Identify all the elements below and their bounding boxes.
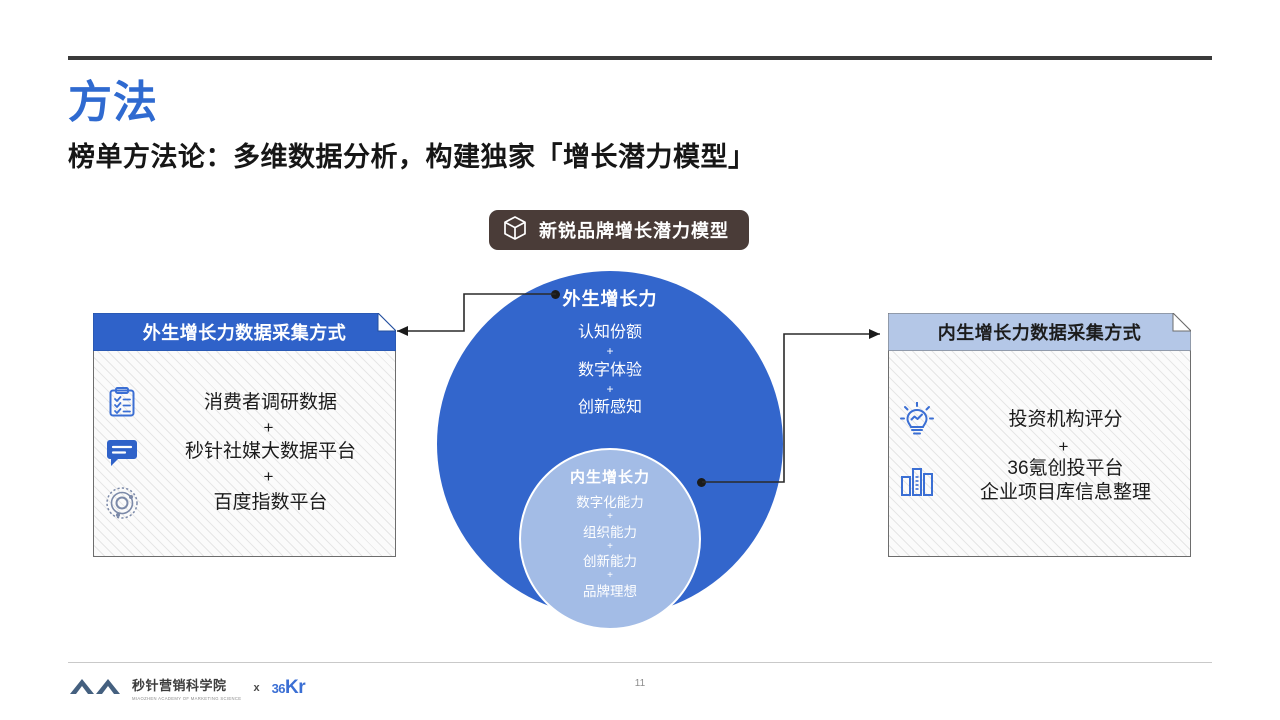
panel-left-label-1: 秒针社媒大数据平台 xyxy=(154,440,395,464)
panel-right-header: 内生增长力数据采集方式 xyxy=(888,313,1191,351)
inner-item-1: 组织能力 xyxy=(521,523,699,542)
outer-sep-1: + xyxy=(437,383,783,396)
panel-right-row-0: 投资机构评分 xyxy=(889,402,1190,438)
panel-right-sep-0: + xyxy=(889,438,1190,457)
panel-right-label-0: 投资机构评分 xyxy=(949,408,1190,432)
inner-item-3: 品牌理想 xyxy=(521,582,699,601)
outer-circle-items: 认知份额 + 数字体验 + 创新感知 xyxy=(437,321,783,420)
outer-item-1: 数字体验 xyxy=(437,359,783,383)
cube-icon xyxy=(503,215,527,246)
outer-circle-title: 外生增长力 xyxy=(437,285,783,311)
inner-circle-anchor-dot xyxy=(697,478,706,487)
lightbulb-chart-icon xyxy=(889,402,945,438)
panel-left-row-2: 百度指数平台 xyxy=(94,486,395,520)
panel-left-title: 外生增长力数据采集方式 xyxy=(143,319,347,345)
panel-left-row-1: 秒针社媒大数据平台 xyxy=(94,438,395,468)
panel-external-growth: 外生增长力数据采集方式 xyxy=(93,313,396,557)
panel-left-sep-0: + xyxy=(94,419,395,438)
inner-sep-1: + xyxy=(521,542,699,553)
page-subtitle: 榜单方法论：多维数据分析，构建独家「增长潜力模型」 xyxy=(68,135,756,174)
outer-sep-0: + xyxy=(437,345,783,358)
page-number: 11 xyxy=(0,678,1280,689)
page-title: 方法 xyxy=(68,78,158,127)
panel-left-header: 外生增长力数据采集方式 xyxy=(93,313,396,351)
panel-right-label-1: 36氪创投平台 企业项目库信息整理 xyxy=(949,457,1190,506)
panel-left-body: 消费者调研数据 + 秒针社媒大数据平台 + xyxy=(93,351,396,557)
panel-right-title: 内生增长力数据采集方式 xyxy=(938,319,1142,345)
radar-target-icon xyxy=(94,486,150,520)
footer-divider xyxy=(68,662,1212,663)
inner-item-0: 数字化能力 xyxy=(521,493,699,512)
panel-right-row-1: 36氪创投平台 企业项目库信息整理 xyxy=(889,457,1190,506)
panel-left-row-0: 消费者调研数据 xyxy=(94,387,395,419)
inner-sep-0: + xyxy=(521,512,699,523)
inner-sep-2: + xyxy=(521,571,699,582)
top-divider xyxy=(68,56,1212,60)
panel-left-sep-1: + xyxy=(94,468,395,487)
inner-growth-circle: 内生增长力 数字化能力 + 组织能力 + 创新能力 + 品牌理想 xyxy=(519,448,701,630)
clipboard-checklist-icon xyxy=(94,387,150,419)
speech-bubble-icon xyxy=(94,438,150,468)
model-badge: 新锐品牌增长潜力模型 xyxy=(489,210,749,250)
outer-circle-anchor-dot xyxy=(551,290,560,299)
outer-item-0: 认知份额 xyxy=(437,321,783,345)
outer-item-2: 创新感知 xyxy=(437,396,783,420)
panel-left-label-0: 消费者调研数据 xyxy=(154,391,395,415)
inner-circle-items: 数字化能力 + 组织能力 + 创新能力 + 品牌理想 xyxy=(521,493,699,601)
model-badge-label: 新锐品牌增长潜力模型 xyxy=(539,217,729,243)
panel-right-body: 投资机构评分 + xyxy=(888,351,1191,557)
brand-name-en: MIAOZHEN ACADEMY OF MARKETING SCIENCE xyxy=(132,696,241,701)
slide-canvas: 方法 榜单方法论：多维数据分析，构建独家「增长潜力模型」 新锐品牌增长潜力模型 … xyxy=(0,0,1280,720)
panel-left-label-2: 百度指数平台 xyxy=(154,491,395,515)
inner-item-2: 创新能力 xyxy=(521,552,699,571)
inner-circle-title: 内生增长力 xyxy=(521,466,699,487)
bar-chart-icon xyxy=(889,465,945,497)
panel-internal-growth: 内生增长力数据采集方式 xyxy=(888,313,1191,557)
